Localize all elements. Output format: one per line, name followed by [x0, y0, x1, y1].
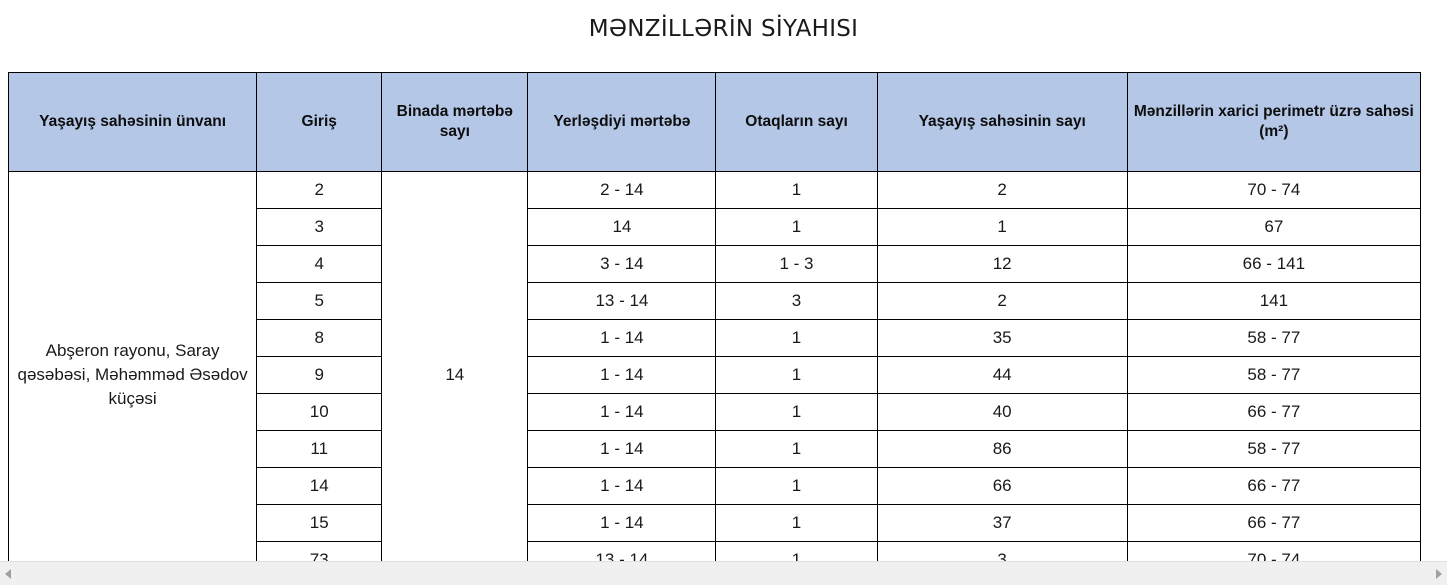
- cell-units: 12: [877, 246, 1127, 283]
- cell-rooms: 1: [716, 505, 877, 542]
- cell-units: 66: [877, 468, 1127, 505]
- cell-entrance: 4: [257, 246, 382, 283]
- cell-rooms: 1: [716, 209, 877, 246]
- cell-located-floor: 13 - 14: [528, 283, 716, 320]
- column-header-perimeter-area: Mənzillərin xarici perimetr üzrə sahəsi …: [1127, 73, 1420, 172]
- column-header-entrance: Giriş: [257, 73, 382, 172]
- cell-entrance: 15: [257, 505, 382, 542]
- cell-located-floor: 3 - 14: [528, 246, 716, 283]
- cell-perimeter-area: 141: [1127, 283, 1420, 320]
- cell-entrance: 2: [257, 172, 382, 209]
- cell-located-floor: 1 - 14: [528, 394, 716, 431]
- apartments-table: Yaşayış sahəsinin ünvanı Giriş Binada mə…: [8, 72, 1421, 579]
- cell-entrance: 9: [257, 357, 382, 394]
- cell-entrance: 10: [257, 394, 382, 431]
- column-header-located-floor: Yerləşdiyi mərtəbə: [528, 73, 716, 172]
- cell-entrance: 8: [257, 320, 382, 357]
- cell-units: 2: [877, 172, 1127, 209]
- cell-located-floor: 1 - 14: [528, 468, 716, 505]
- triangle-left-icon: [5, 569, 11, 579]
- cell-perimeter-area: 70 - 74: [1127, 172, 1420, 209]
- cell-rooms: 1 - 3: [716, 246, 877, 283]
- table-row: Abşeron rayonu, Saray qəsəbəsi, Məhəmməd…: [9, 172, 1421, 209]
- page-title: MƏNZİLLƏRİN SİYAHISI: [0, 16, 1447, 42]
- cell-located-floor: 1 - 14: [528, 320, 716, 357]
- cell-rooms: 1: [716, 468, 877, 505]
- cell-perimeter-area: 67: [1127, 209, 1420, 246]
- cell-rooms: 1: [716, 357, 877, 394]
- cell-building-floors: 14: [382, 172, 528, 579]
- cell-rooms: 3: [716, 283, 877, 320]
- cell-entrance: 14: [257, 468, 382, 505]
- column-header-address: Yaşayış sahəsinin ünvanı: [9, 73, 257, 172]
- cell-located-floor: 1 - 14: [528, 505, 716, 542]
- cell-perimeter-area: 58 - 77: [1127, 357, 1420, 394]
- cell-located-floor: 14: [528, 209, 716, 246]
- cell-units: 37: [877, 505, 1127, 542]
- cell-units: 44: [877, 357, 1127, 394]
- cell-units: 2: [877, 283, 1127, 320]
- cell-units: 1: [877, 209, 1127, 246]
- cell-perimeter-area: 66 - 77: [1127, 505, 1420, 542]
- cell-units: 40: [877, 394, 1127, 431]
- scrollbar-track[interactable]: [17, 562, 1430, 585]
- cell-located-floor: 2 - 14: [528, 172, 716, 209]
- cell-perimeter-area: 58 - 77: [1127, 320, 1420, 357]
- column-header-building-floors: Binada mərtəbə sayı: [382, 73, 528, 172]
- cell-perimeter-area: 66 - 141: [1127, 246, 1420, 283]
- cell-perimeter-area: 58 - 77: [1127, 431, 1420, 468]
- cell-rooms: 1: [716, 431, 877, 468]
- cell-entrance: 3: [257, 209, 382, 246]
- cell-perimeter-area: 66 - 77: [1127, 468, 1420, 505]
- table-container: Yaşayış sahəsinin ünvanı Giriş Binada mə…: [8, 72, 1421, 579]
- column-header-units: Yaşayış sahəsinin sayı: [877, 73, 1127, 172]
- cell-rooms: 1: [716, 320, 877, 357]
- cell-rooms: 1: [716, 172, 877, 209]
- table-header: Yaşayış sahəsinin ünvanı Giriş Binada mə…: [9, 73, 1421, 172]
- cell-entrance: 11: [257, 431, 382, 468]
- cell-units: 35: [877, 320, 1127, 357]
- cell-rooms: 1: [716, 394, 877, 431]
- cell-address: Abşeron rayonu, Saray qəsəbəsi, Məhəmməd…: [9, 172, 257, 579]
- cell-perimeter-area: 66 - 77: [1127, 394, 1420, 431]
- cell-located-floor: 1 - 14: [528, 431, 716, 468]
- horizontal-scrollbar[interactable]: [0, 561, 1447, 585]
- cell-entrance: 5: [257, 283, 382, 320]
- cell-located-floor: 1 - 14: [528, 357, 716, 394]
- cell-units: 86: [877, 431, 1127, 468]
- document-page: MƏNZİLLƏRİN SİYAHISI Yaşayış sahəsinin ü…: [0, 0, 1447, 585]
- column-header-rooms: Otaqların sayı: [716, 73, 877, 172]
- scroll-right-button[interactable]: [1430, 562, 1447, 585]
- scroll-left-button[interactable]: [0, 562, 17, 585]
- triangle-right-icon: [1436, 569, 1442, 579]
- table-header-row: Yaşayış sahəsinin ünvanı Giriş Binada mə…: [9, 73, 1421, 172]
- table-body: Abşeron rayonu, Saray qəsəbəsi, Məhəmməd…: [9, 172, 1421, 579]
